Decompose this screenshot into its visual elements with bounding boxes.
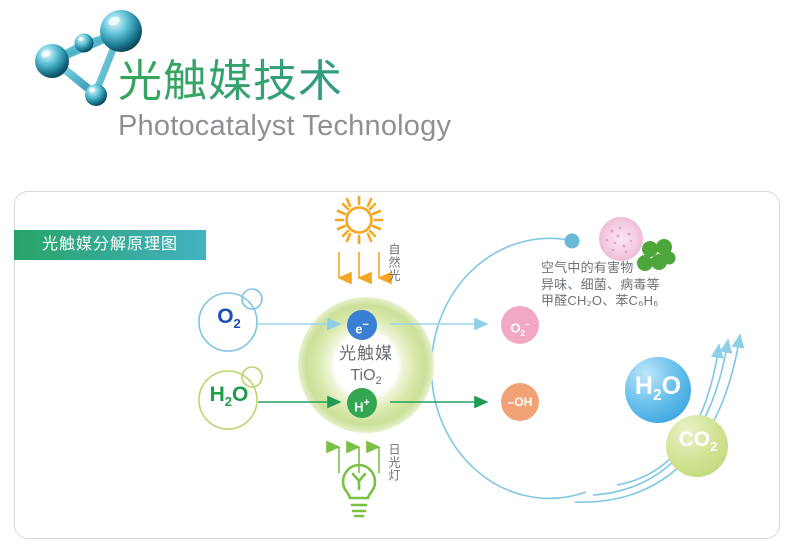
superoxide-charge: −	[525, 320, 530, 329]
water-symbol-o: O	[232, 383, 248, 406]
catalyst-formula-text: TiO	[350, 367, 375, 384]
superoxide-subscript: 2	[520, 329, 524, 338]
pollutant-text-block: 空气中的有害物 异味、细菌、病毒等 甲醛CH₂O、苯C₆H₆	[541, 260, 721, 310]
co2-symbol: CO	[679, 428, 711, 451]
lamp-label: 日光灯	[387, 443, 401, 482]
water-product-sub: 2	[653, 387, 662, 404]
superoxide-symbol: O	[510, 320, 520, 335]
superoxide-label: O2−	[503, 310, 537, 349]
electron-charge: −	[362, 319, 368, 331]
co2-product-label: CO2	[669, 428, 727, 454]
hole-charge: +	[364, 397, 370, 409]
diagram-badge: 光触媒分解原理图	[14, 230, 206, 260]
catalyst-formula-sub: 2	[376, 375, 382, 387]
electron-badge-label: e−	[347, 310, 377, 340]
water-subscript: 2	[225, 394, 232, 409]
pollutant-line-1: 空气中的有害物	[541, 260, 721, 277]
oxygen-symbol: O	[217, 305, 233, 328]
water-product-label: H2O	[628, 372, 688, 405]
co2-subscript: 2	[710, 439, 717, 454]
oxygen-subscript: 2	[234, 316, 241, 331]
hole-symbol: H	[354, 399, 363, 414]
water-symbol-h: H	[210, 383, 225, 406]
page-title: 光触媒技术 Photocatalyst Technology	[118, 56, 451, 143]
title-chinese: 光触媒技术	[118, 56, 451, 108]
title-english: Photocatalyst Technology	[118, 109, 451, 143]
pollutant-line-3: 甲醛CH₂O、苯C₆H₆	[541, 293, 721, 310]
hydroxyl-label: –OH	[500, 389, 540, 415]
sunlight-label: 自然光	[387, 243, 401, 282]
water-product-o: O	[662, 372, 681, 400]
pollutant-line-2: 异味、细菌、病毒等	[541, 277, 721, 294]
hole-badge-label: H+	[347, 388, 377, 418]
page-root: 光触媒技术 Photocatalyst Technology 光触媒分解原理图	[0, 0, 800, 556]
water-product-h: H	[635, 372, 653, 400]
water-reactant-label: H2O	[199, 383, 259, 409]
oxygen-reactant-label: O2	[205, 305, 253, 331]
catalyst-name: 光触媒	[306, 343, 426, 365]
